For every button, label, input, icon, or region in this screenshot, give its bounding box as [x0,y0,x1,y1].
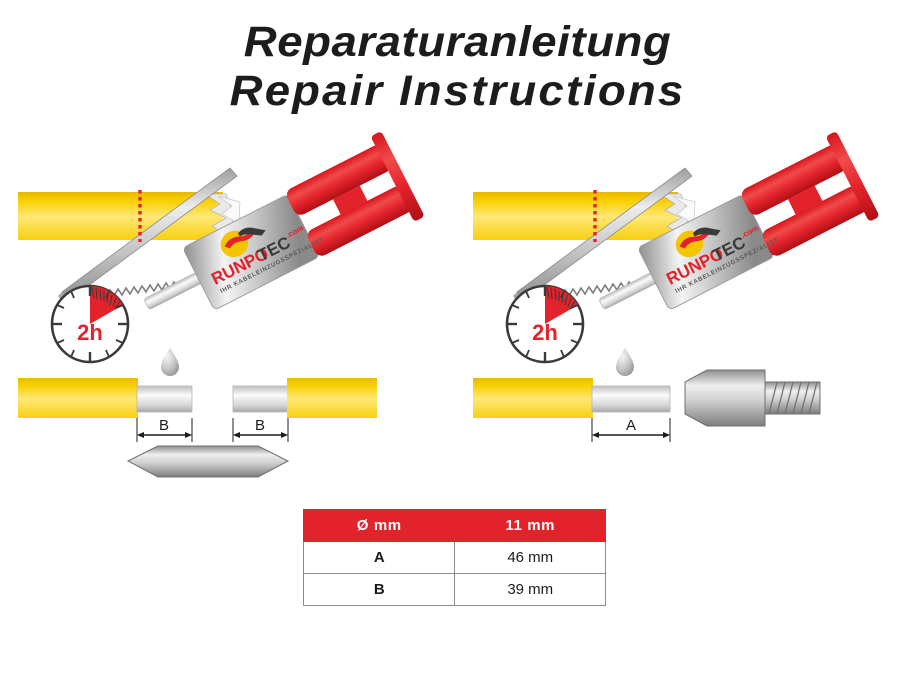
threaded-connector-icon [685,370,820,426]
clock-label-right: 2h [532,320,558,345]
yellow-cable-segment-2 [287,378,377,418]
exposed-core-2 [233,386,288,412]
table-row: A 46 mm [304,542,606,574]
table-cell-value-a: 46 mm [455,542,606,574]
instruction-group-right: 2h RUNPO TEC .com IHR KABELEINZUGSSPEZIA… [455,130,915,510]
instruction-group-left: 2h RUNPO TEC .com IHR KABELEINZUGSSPEZIA… [0,130,460,510]
cable-pieces-right [473,378,670,418]
coupling-sleeve-icon [128,446,288,477]
table-header-size: 11 mm [455,510,606,542]
title-english: Repair Instructions [0,67,915,116]
clock-label-left: 2h [77,320,103,345]
cable-pieces-left [18,378,377,418]
exposed-core-1 [137,386,192,412]
page-title: Reparaturanleitung Repair Instructions [0,18,915,116]
title-german: Reparaturanleitung [0,18,915,67]
clock-2h-icon: 2h [52,286,128,362]
clock-2h-icon: 2h [507,286,583,362]
dimension-label-b2: B [255,417,265,434]
dimension-label-a: A [626,417,636,434]
dimension-group-left: B B [137,417,288,442]
yellow-cable-segment-1 [473,378,593,418]
exposed-core-1 [592,386,670,412]
table-cell-label-b: B [304,574,455,606]
table-header-row: Ø mm 11 mm [304,510,606,542]
dimension-group-right: A [592,417,670,442]
table-cell-value-b: 39 mm [455,574,606,606]
table-row: B 39 mm [304,574,606,606]
table-cell-label-a: A [304,542,455,574]
diagram-canvas: Reparaturanleitung Repair Instructions [0,0,915,686]
dimension-label-b1: B [159,417,169,434]
glue-droplet-icon [616,348,634,376]
spec-table: Ø mm 11 mm A 46 mm B 39 mm [303,509,606,606]
table-header-diameter: Ø mm [304,510,455,542]
yellow-cable-segment-1 [18,378,138,418]
glue-droplet-icon [161,348,179,376]
